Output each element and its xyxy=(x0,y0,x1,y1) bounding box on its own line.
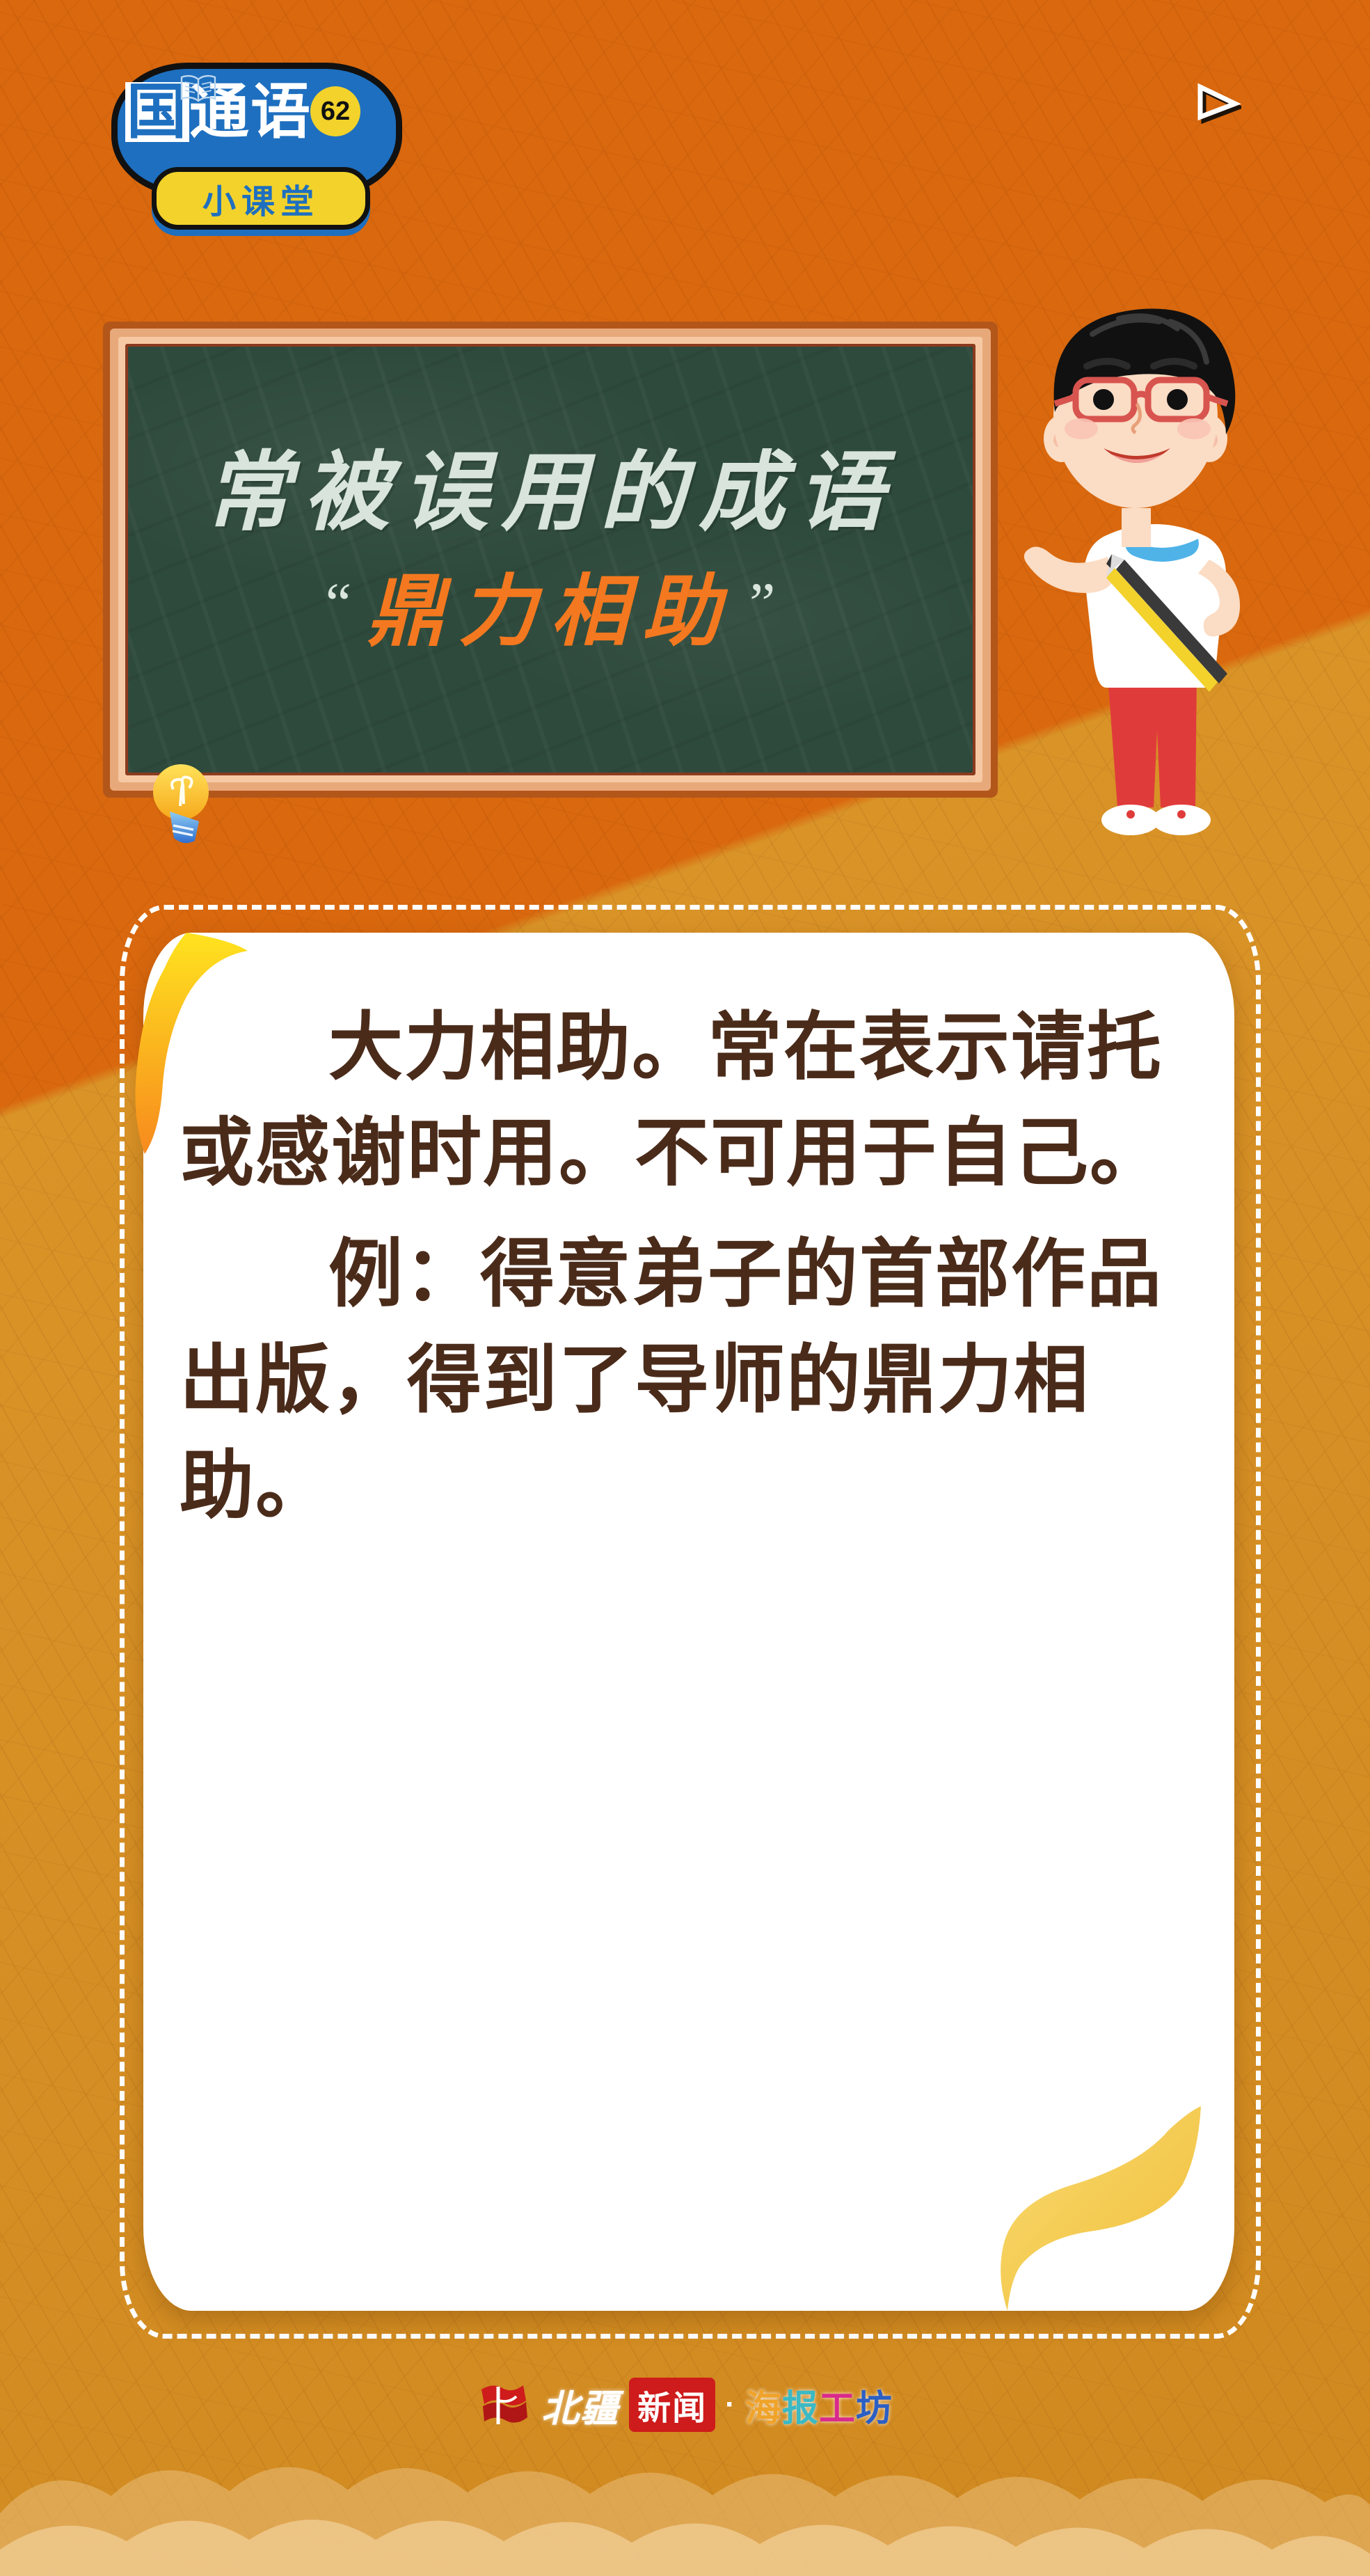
footer-news-badge: 新闻 xyxy=(629,2378,715,2432)
footer-separator: · xyxy=(725,2387,735,2422)
play-triangle-icon[interactable] xyxy=(1195,82,1241,124)
card-text-block: 大力相助。常在表示请托或感谢时用。不可用于自己。 例：得意弟子的首部作品出版，得… xyxy=(180,995,1209,1555)
boy-student-illustration xyxy=(988,230,1336,891)
open-book-icon xyxy=(178,72,218,103)
footer-name-beijiang: 北疆 xyxy=(541,2378,619,2433)
studio-char-4: 坊 xyxy=(856,2389,893,2429)
studio-char-1: 海 xyxy=(745,2389,782,2429)
pants xyxy=(1108,675,1197,807)
example-paragraph: 例：得意弟子的首部作品出版，得到了导师的鼎力相助。 xyxy=(180,1222,1209,1540)
poster-root: 国通语 62 小课堂 常被误用的成语 “鼎力相助” xyxy=(0,0,1370,2576)
shoe-left xyxy=(1101,805,1160,835)
blackboard-title: 常被误用的成语 xyxy=(128,422,973,547)
definition-paragraph: 大力相助。常在表示请托或感谢时用。不可用于自己。 xyxy=(180,995,1209,1207)
footer-branding: 北疆 新闻 · 海报工坊 xyxy=(0,2366,1370,2443)
beijiang-flag-icon xyxy=(477,2380,532,2430)
logo-subtitle-text: 小课堂 xyxy=(202,174,319,223)
page-curl-ribbon-top-left xyxy=(104,930,250,1160)
logo-subtitle-ribbon: 小课堂 xyxy=(152,167,370,230)
blackboard: 常被误用的成语 “鼎力相助” xyxy=(103,322,998,798)
page-curl-ribbon-bottom-right xyxy=(953,2102,1204,2325)
lightbulb-icon xyxy=(152,760,216,852)
studio-char-2: 报 xyxy=(782,2389,819,2429)
footer-studio-name: 海报工坊 xyxy=(745,2379,893,2431)
quote-open: “ xyxy=(326,571,351,636)
blackboard-surface: 常被误用的成语 “鼎力相助” xyxy=(128,347,973,773)
shoe-right xyxy=(1152,805,1211,835)
brand-logo[interactable]: 国通语 62 小课堂 xyxy=(97,63,404,237)
quote-close: ” xyxy=(749,571,775,636)
blackboard-idiom: 鼎力相助 xyxy=(351,569,749,656)
episode-number-badge: 62 xyxy=(310,86,360,136)
blackboard-idiom-row: “鼎力相助” xyxy=(128,548,973,661)
studio-char-3: 工 xyxy=(819,2389,856,2429)
